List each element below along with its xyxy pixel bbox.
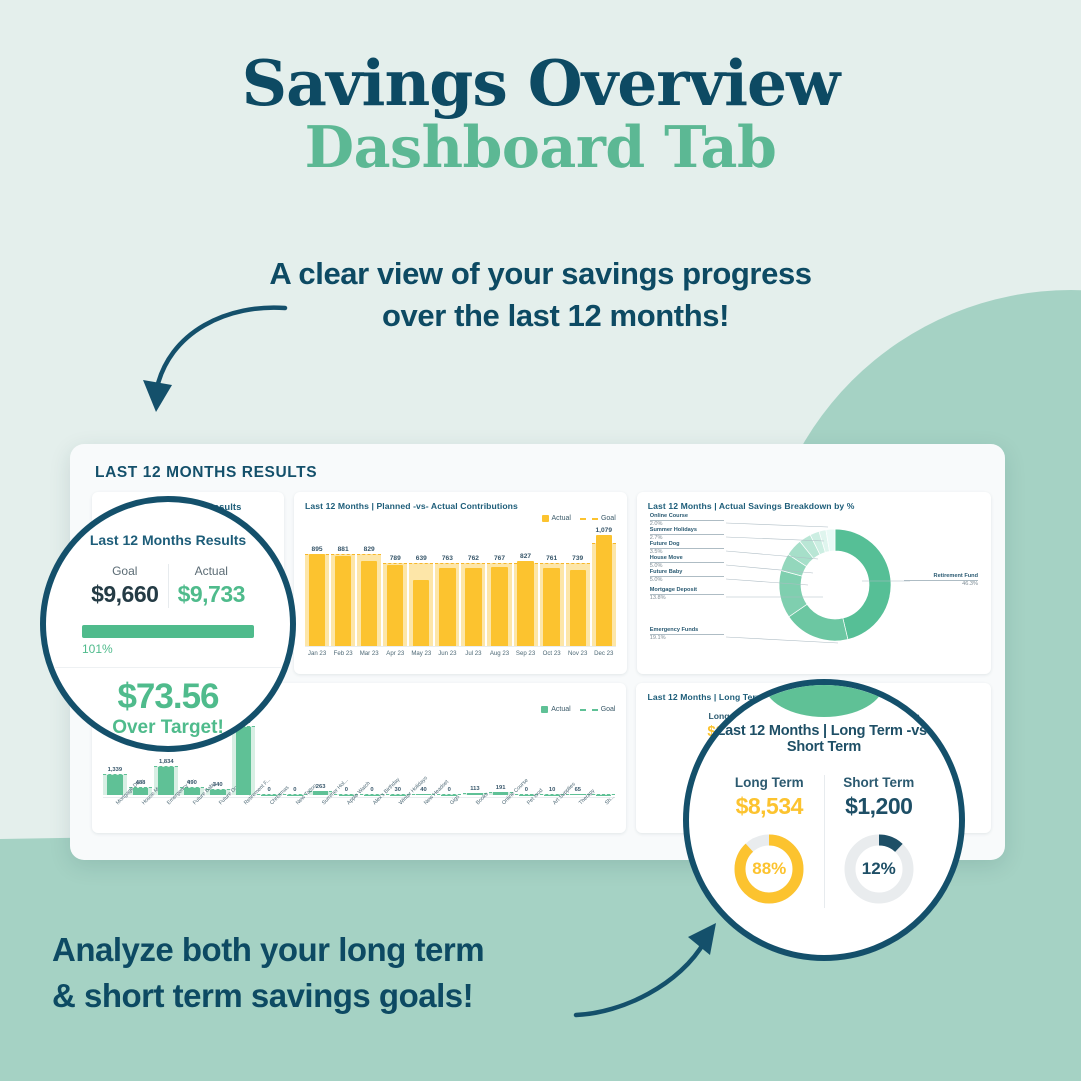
page-title-line1: Savings Overview — [0, 52, 1081, 115]
category-x-tick: Retirement F... — [232, 798, 256, 843]
legend-swatch-goal-icon — [580, 518, 598, 520]
category-bar-group[interactable]: 263 — [309, 721, 333, 795]
category-x-tick: Summer Hol... — [309, 798, 333, 843]
callout-progress-fill — [82, 625, 254, 638]
donut-label-name: Future Baby — [650, 569, 724, 577]
category-actual-bar — [107, 775, 123, 795]
monthly-bar-group[interactable]: 761 — [540, 528, 564, 646]
monthly-bar-group[interactable]: 881 — [331, 528, 355, 646]
monthly-bar-label: 739 — [562, 555, 594, 562]
legend-item-goal: Goal — [580, 515, 616, 522]
category-actual-bar — [416, 794, 432, 795]
category-bar-group[interactable]: 191 — [489, 721, 513, 795]
category-bar-label: 65 — [559, 787, 597, 793]
category-actual-bar — [313, 791, 329, 795]
category-x-tick: Future Baby — [180, 798, 204, 843]
bottom-caption: Analyze both your long term & short term… — [52, 927, 484, 1019]
legend-label-goal: Goal — [601, 706, 616, 713]
callout-long-term-value: $8,534 — [715, 793, 824, 820]
monthly-actual-bar — [491, 567, 507, 646]
monthly-actual-bar — [413, 580, 429, 646]
category-x-tick-label: Sh... — [604, 794, 616, 806]
monthly-actual-bar — [309, 554, 325, 646]
monthly-bar-label: 1,079 — [588, 527, 620, 534]
panel-savings-breakdown: Last 12 Months | Actual Savings Breakdow… — [637, 492, 991, 674]
curved-arrow-down-icon — [120, 300, 290, 430]
category-x-tick: Alex's Birthday — [360, 798, 384, 843]
callout-short-term-percent: 12% — [840, 830, 918, 908]
donut-label-name: Summer Holidays — [650, 527, 724, 535]
callout-actual-label: Actual — [169, 564, 255, 578]
category-bar-label: 488 — [122, 780, 160, 786]
category-x-tick: Apple Watch — [334, 798, 358, 843]
callout-goal-column: Goal $9,660 — [82, 564, 168, 608]
category-actual-bar — [467, 793, 483, 795]
callout-long-term-label: Long Term — [715, 775, 824, 790]
legend-item-actual-category: Actual — [541, 706, 570, 713]
category-bar-label: 1,339 — [96, 767, 134, 773]
monthly-actual-bar — [335, 556, 351, 646]
category-actual-bar — [570, 794, 586, 795]
monthly-chart-title: Last 12 Months | Planned -vs- Actual Con… — [305, 501, 616, 511]
panel-planned-vs-actual: Last 12 Months | Planned -vs- Actual Con… — [294, 492, 627, 674]
category-actual-bar — [184, 788, 200, 795]
monthly-actual-bar — [543, 568, 559, 646]
monthly-actual-bar — [596, 535, 612, 646]
callout-over-amount: $73.56 — [82, 677, 254, 717]
callout-longshort-columns: Long Term $8,534 88% Short Term $1,200 — [715, 775, 933, 908]
donut-slice-label: Retirement Fund46.3% — [904, 573, 978, 588]
donut-label-name: Online Course — [650, 513, 724, 521]
monthly-bars-plot: 8958818297896397637627678277617391,079 — [305, 528, 616, 646]
donut-label-name: Retirement Fund — [904, 573, 978, 581]
category-actual-bar — [133, 788, 149, 795]
category-x-tick: New Tattoo — [283, 798, 307, 843]
donut-plot: Online Course2.0%Summer Holidays2.7%Futu… — [648, 511, 980, 661]
monthly-bar-group[interactable]: 639 — [409, 528, 433, 646]
category-x-tick: Christmas — [257, 798, 281, 843]
category-bar-group[interactable]: 113 — [463, 721, 487, 795]
legend-item-goal-category: Goal — [580, 706, 616, 713]
callout-short-term-label: Short Term — [825, 775, 934, 790]
callout-results-columns: Goal $9,660 Actual $9,733 — [82, 564, 254, 608]
monthly-bar-group[interactable]: 763 — [435, 528, 459, 646]
monthly-x-tick: Aug 23 — [487, 650, 511, 657]
monthly-bar-group[interactable]: 739 — [566, 528, 590, 646]
category-x-axis: Mortgage De...House MoveEmergency F...Fu… — [103, 797, 615, 843]
monthly-x-tick: Feb 23 — [331, 650, 355, 657]
monthly-x-tick: Jul 23 — [461, 650, 485, 657]
callout-long-term-percent: 88% — [730, 830, 808, 908]
monthly-x-tick: Sep 23 — [514, 650, 538, 657]
category-bar-group[interactable] — [592, 721, 616, 795]
monthly-actual-bar — [387, 565, 403, 646]
monthly-bar-group[interactable]: 829 — [357, 528, 381, 646]
callout-results-content: Last 12 Months Results Goal $9,660 Actua… — [46, 502, 290, 746]
callout-goal-label: Goal — [82, 564, 168, 578]
donut-slice-label: Future Baby5.0% — [650, 569, 724, 584]
category-actual-bar — [210, 790, 226, 795]
callout-short-term-value: $1,200 — [825, 793, 934, 820]
monthly-bar-label: 829 — [353, 546, 385, 553]
legend-item-actual: Actual — [542, 515, 571, 522]
callout-divider — [46, 667, 290, 668]
monthly-bar-group[interactable]: 895 — [305, 528, 329, 646]
category-x-tick: New Headset — [412, 798, 436, 843]
callout-progress-percent: 101% — [82, 642, 254, 656]
category-x-tick: Online Course — [489, 798, 513, 843]
category-x-tick: Art Supplies — [540, 798, 564, 843]
callout-long-short-content: Last 12 Months | Long Term -vs- Short Te… — [689, 685, 959, 955]
callout-long-short-zoom: Goal Last 12 Months | Long Term -vs- Sho… — [683, 679, 965, 961]
legend-label-actual: Actual — [551, 706, 570, 713]
callout-short-term-column: Short Term $1,200 12% — [824, 775, 934, 908]
category-x-tick: Gigs — [437, 798, 461, 843]
donut-label-percent: 13.8% — [650, 595, 724, 602]
callout-results-title: Last 12 Months Results — [82, 532, 254, 548]
page-title-line2: Dashboard Tab — [0, 115, 1081, 181]
callout-longshort-title: Last 12 Months | Long Term -vs- Short Te… — [715, 723, 933, 755]
bottom-caption-line2: & short term savings goals! — [52, 973, 484, 1019]
category-x-tick: Emergency F... — [154, 798, 178, 843]
monthly-x-tick: Jan 23 — [305, 650, 329, 657]
category-x-tick: Winter Holidays — [386, 798, 410, 843]
category-bar-group[interactable]: 10 — [540, 721, 564, 795]
page-title: Savings Overview Dashboard Tab — [0, 52, 1081, 181]
subtitle-line1: A clear view of your savings progress — [0, 253, 1081, 295]
monthly-x-tick: Nov 23 — [566, 650, 590, 657]
donut-slice-label: Mortgage Deposit13.8% — [650, 587, 724, 602]
monthly-x-tick: Apr 23 — [383, 650, 407, 657]
monthly-bar-group[interactable]: 1,079 — [592, 528, 616, 646]
legend-swatch-actual-icon — [541, 706, 548, 713]
monthly-x-tick: May 23 — [409, 650, 433, 657]
donut-label-percent: 46.3% — [904, 581, 978, 588]
category-actual-bar — [158, 767, 174, 795]
category-x-tick: Sh... — [592, 798, 616, 843]
donut-label-name: House Move — [650, 555, 724, 563]
monthly-x-tick: Dec 23 — [592, 650, 616, 657]
callout-results-zoom: Last 12 Months Results Goal $9,660 Actua… — [40, 496, 296, 752]
callout-actual-value: $9,733 — [169, 581, 255, 608]
monthly-bar-group[interactable]: 767 — [487, 528, 511, 646]
category-x-tick: House Move — [129, 798, 153, 843]
monthly-x-tick: Jun 23 — [435, 650, 459, 657]
legend-label-actual: Actual — [552, 515, 571, 522]
category-x-tick: Therapy — [566, 798, 590, 843]
card-header-title: LAST 12 MONTHS RESULTS — [70, 444, 1005, 482]
donut-slice-label: Emergency Funds19.1% — [650, 627, 724, 642]
monthly-bar-group[interactable]: 762 — [461, 528, 485, 646]
monthly-x-tick: Mar 23 — [357, 650, 381, 657]
donut-chart-icon — [760, 517, 910, 657]
category-x-tick: Books — [463, 798, 487, 843]
category-x-tick: Pet food — [515, 798, 539, 843]
category-bar-label: 1,834 — [147, 759, 185, 765]
monthly-x-axis: Jan 23Feb 23Mar 23Apr 23May 23Jun 23Jul … — [305, 646, 616, 657]
monthly-chart-legend: Actual Goal — [305, 515, 616, 522]
callout-progress-track — [82, 625, 254, 638]
donut-label-name: Mortgage Deposit — [650, 587, 724, 595]
breakdown-chart-title: Last 12 Months | Actual Savings Breakdow… — [648, 501, 980, 511]
callout-over-label: Over Target! — [82, 717, 254, 739]
callout-long-term-column: Long Term $8,534 88% — [715, 775, 824, 908]
monthly-actual-bar — [465, 568, 481, 646]
donut-label-percent: 19.1% — [650, 635, 724, 642]
legend-label-goal: Goal — [601, 515, 616, 522]
monthly-x-tick: Oct 23 — [540, 650, 564, 657]
category-x-tick-label: Gigs — [449, 794, 461, 806]
category-bar-label: 340 — [199, 782, 237, 788]
category-x-tick: Future Dog — [206, 798, 230, 843]
monthly-actual-bar — [570, 570, 586, 646]
donut-label-percent: 5.0% — [650, 577, 724, 584]
category-actual-bar — [493, 792, 509, 795]
legend-swatch-actual-icon — [542, 515, 549, 522]
callout-short-term-ring: 12% — [840, 830, 918, 908]
bottom-caption-line1: Analyze both your long term — [52, 927, 484, 973]
callout-long-term-ring: 88% — [730, 830, 808, 908]
monthly-actual-bar — [517, 561, 533, 646]
category-x-tick: Mortgage De... — [103, 798, 127, 843]
monthly-actual-bar — [361, 561, 377, 646]
legend-swatch-goal-icon — [580, 709, 598, 711]
monthly-bar-group[interactable]: 789 — [383, 528, 407, 646]
callout-actual-column: Actual $9,733 — [168, 564, 255, 608]
monthly-actual-bar — [439, 568, 455, 646]
callout-goal-value: $9,660 — [82, 581, 168, 608]
donut-label-name: Emergency Funds — [650, 627, 724, 635]
donut-label-name: Future Dog — [650, 541, 724, 549]
monthly-bar-group[interactable]: 827 — [514, 528, 538, 646]
